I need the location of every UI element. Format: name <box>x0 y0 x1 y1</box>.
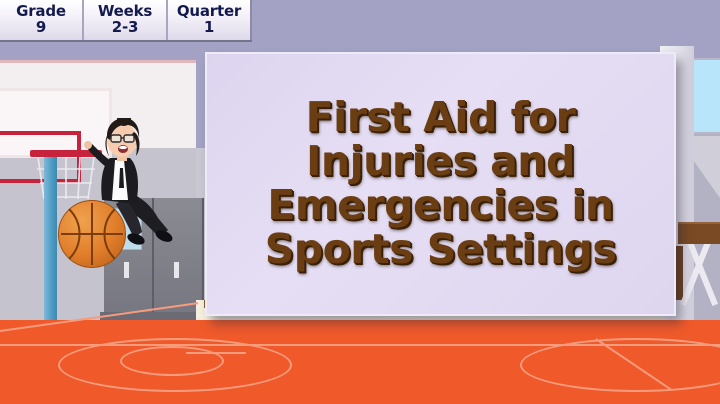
slide-title: First Aid for Injuries and Emergencies i… <box>207 96 674 271</box>
basketball-court-floor <box>0 320 720 404</box>
wooden-bench <box>678 222 720 244</box>
presentation-slide: First Aid for Injuries and Emergencies i… <box>0 0 720 404</box>
title-panel: First Aid for Injuries and Emergencies i… <box>205 52 676 316</box>
court-arc <box>120 346 224 376</box>
court-arc <box>520 338 720 392</box>
title-line-3: Emergencies in <box>207 184 674 228</box>
title-line-2: Injuries and <box>207 140 674 184</box>
meta-value-grade: 9 <box>36 20 46 36</box>
title-line-1: First Aid for <box>207 96 674 140</box>
meta-cell-quarter: Quarter 1 <box>168 0 252 40</box>
meta-cell-grade: Grade 9 <box>0 0 84 40</box>
bench-post <box>676 246 683 300</box>
court-line <box>186 352 246 354</box>
meta-value-weeks: 2-3 <box>112 20 139 36</box>
meta-value-quarter: 1 <box>204 20 214 36</box>
locker-handle-icon <box>174 262 179 278</box>
gym-wall-trim <box>0 60 196 63</box>
lesson-meta-table: Grade 9 Weeks 2-3 Quarter 1 <box>0 0 252 42</box>
title-line-4: Sports Settings <box>207 228 674 272</box>
hoop-pole <box>44 157 57 322</box>
teacher-avatar <box>84 118 176 248</box>
meta-cell-weeks: Weeks 2-3 <box>84 0 168 40</box>
